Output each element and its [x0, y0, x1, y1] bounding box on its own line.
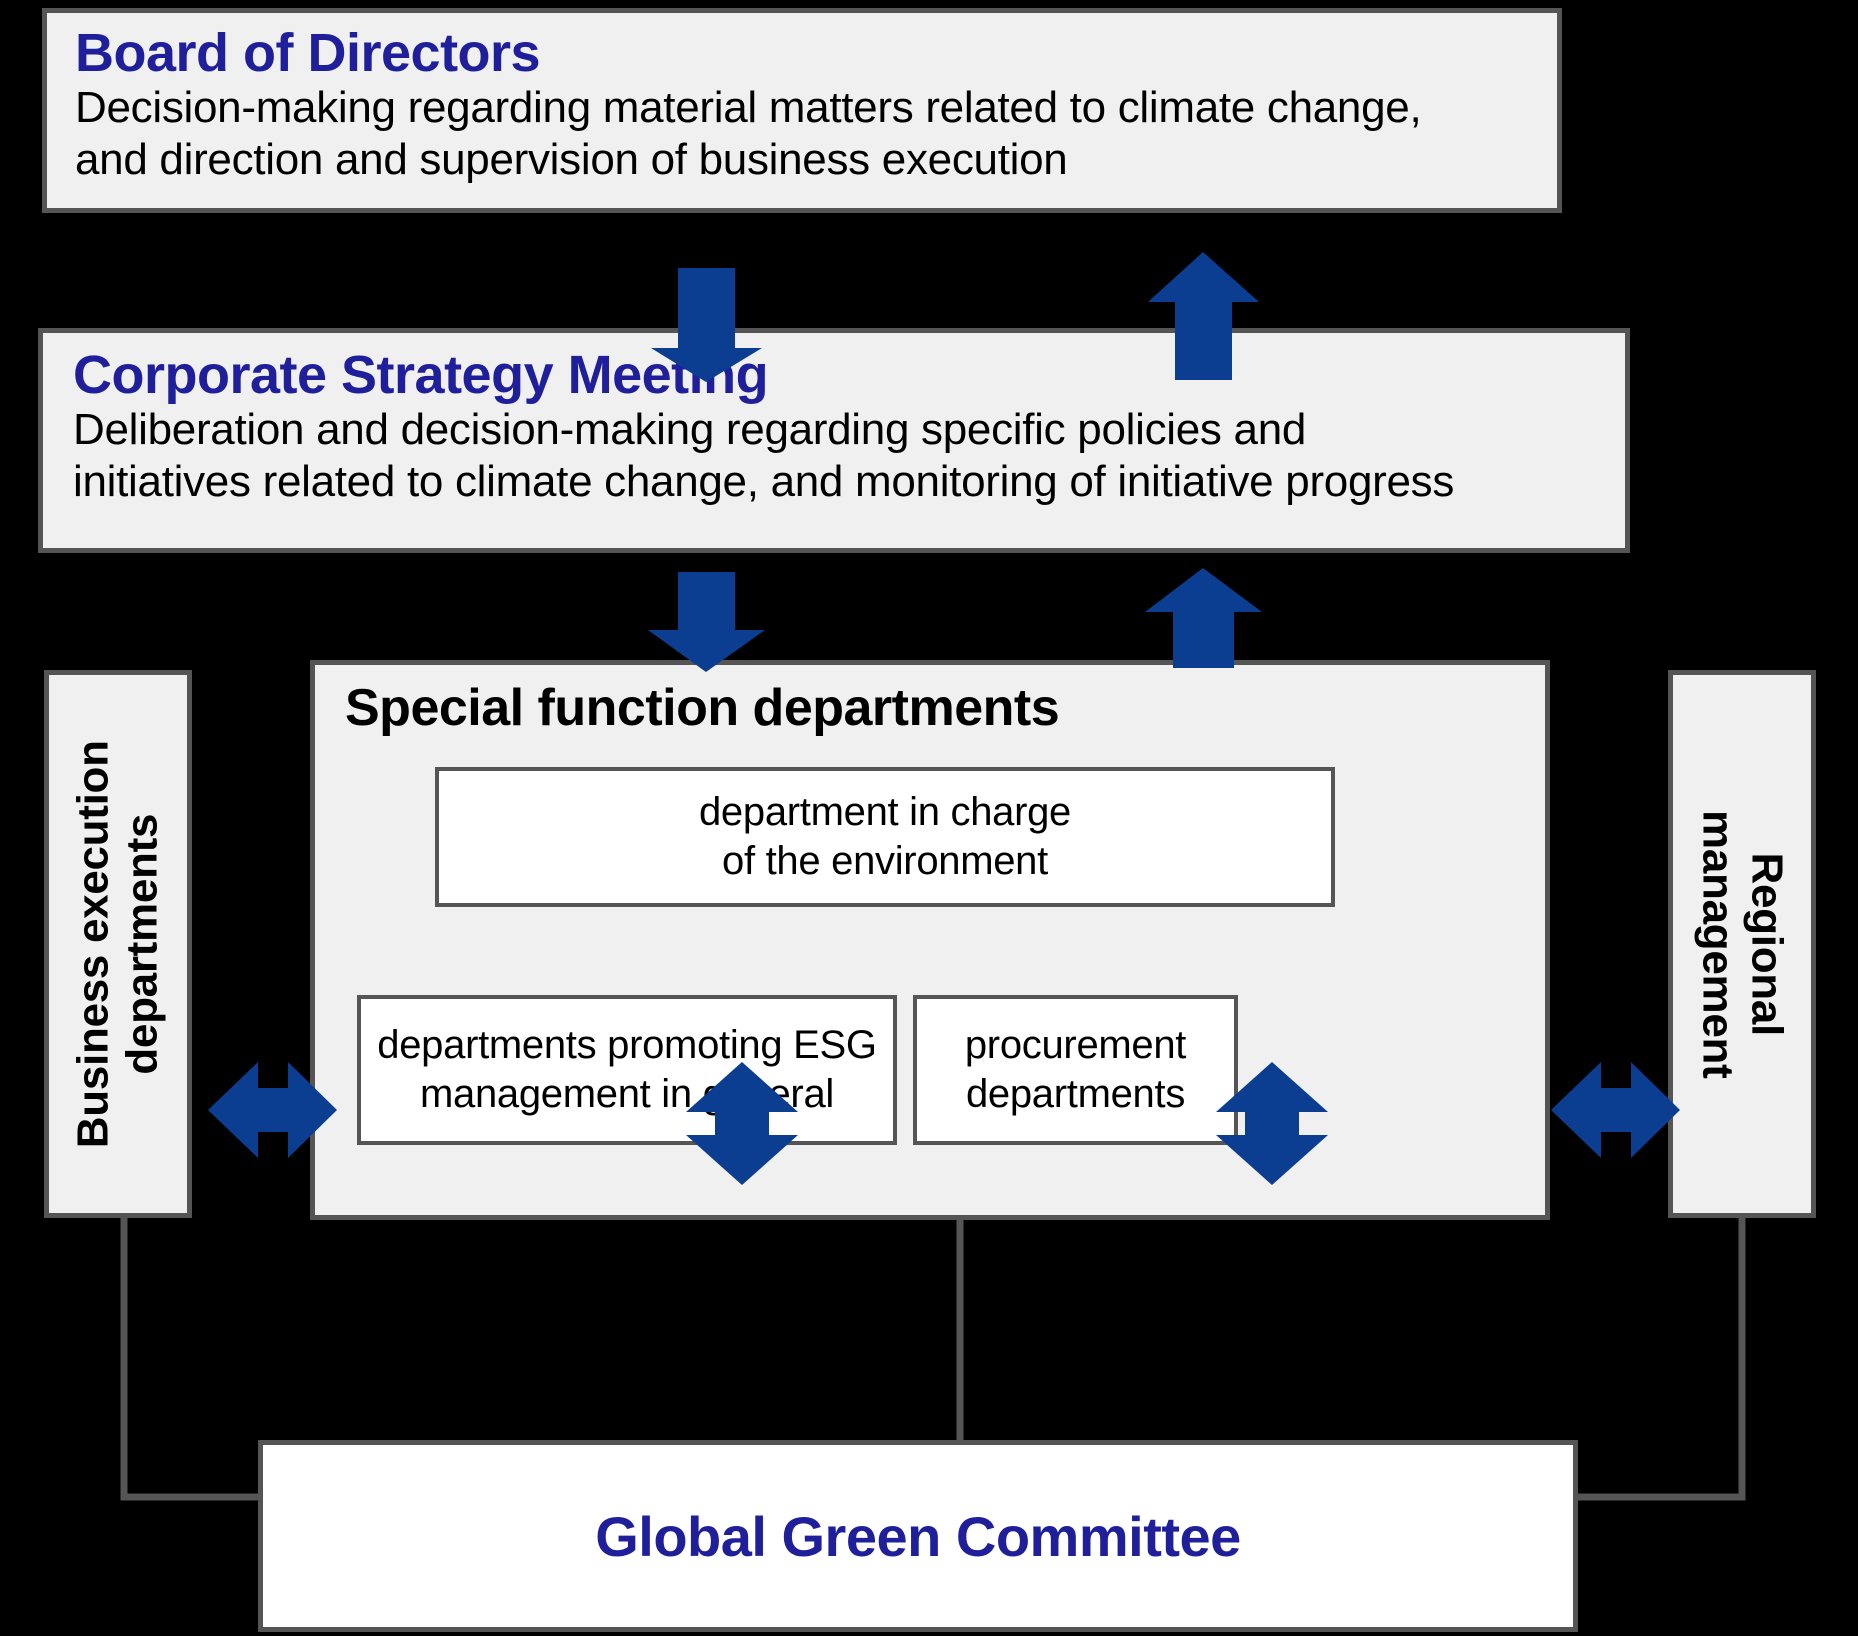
esg-box-line2: management in general	[377, 1070, 876, 1119]
board-description-line1: Decision-making regarding material matte…	[75, 82, 1557, 134]
csm-title: Corporate Strategy Meeting	[73, 347, 1625, 404]
global-green-committee-panel: Global Green Committee	[258, 1440, 1578, 1632]
line-biz-to-committee	[124, 1218, 262, 1497]
department-in-charge-of-environment-box: department in charge of the environment	[435, 767, 1335, 907]
esg-management-departments-box: departments promoting ESG management in …	[357, 995, 897, 1145]
arrow-csm-to-special-down-icon	[648, 572, 765, 672]
regional-management-panel: Regional management	[1668, 670, 1816, 1218]
board-of-directors-panel: Board of Directors Decision-making regar…	[42, 8, 1562, 213]
procurement-box-line2: departments	[965, 1070, 1186, 1119]
diagram-canvas: Board of Directors Decision-making regar…	[0, 0, 1858, 1636]
corporate-strategy-meeting-panel: Corporate Strategy Meeting Deliberation …	[38, 328, 1630, 553]
csm-description-line2: initiatives related to climate change, a…	[73, 456, 1625, 508]
esg-box-line1: departments promoting ESG	[377, 1021, 876, 1070]
special-function-title: Special function departments	[345, 681, 1059, 736]
procurement-box-line1: procurement	[965, 1021, 1186, 1070]
regional-management-label-line2: management	[1693, 810, 1742, 1078]
line-region-to-committee	[1574, 1218, 1742, 1497]
environment-box-line1: department in charge	[699, 788, 1071, 837]
board-title: Board of Directors	[75, 25, 1557, 82]
environment-box-line2: of the environment	[699, 837, 1071, 886]
regional-management-label-line1: Regional	[1742, 810, 1791, 1078]
board-description-line2: and direction and supervision of busines…	[75, 134, 1557, 186]
global-green-committee-title: Global Green Committee	[595, 1504, 1241, 1569]
csm-description-line1: Deliberation and decision-making regardi…	[73, 404, 1625, 456]
business-execution-label-line2: departments	[118, 740, 167, 1148]
arrow-special-to-csm-up-icon	[1145, 568, 1262, 668]
business-execution-label-line1: Business execution	[69, 740, 118, 1148]
business-execution-departments-panel: Business execution departments	[44, 670, 192, 1218]
special-function-departments-panel: Special function departments department …	[310, 660, 1550, 1220]
procurement-departments-box: procurement departments	[913, 995, 1238, 1145]
arrow-special-to-region-bidirectional-icon	[1551, 1062, 1680, 1158]
